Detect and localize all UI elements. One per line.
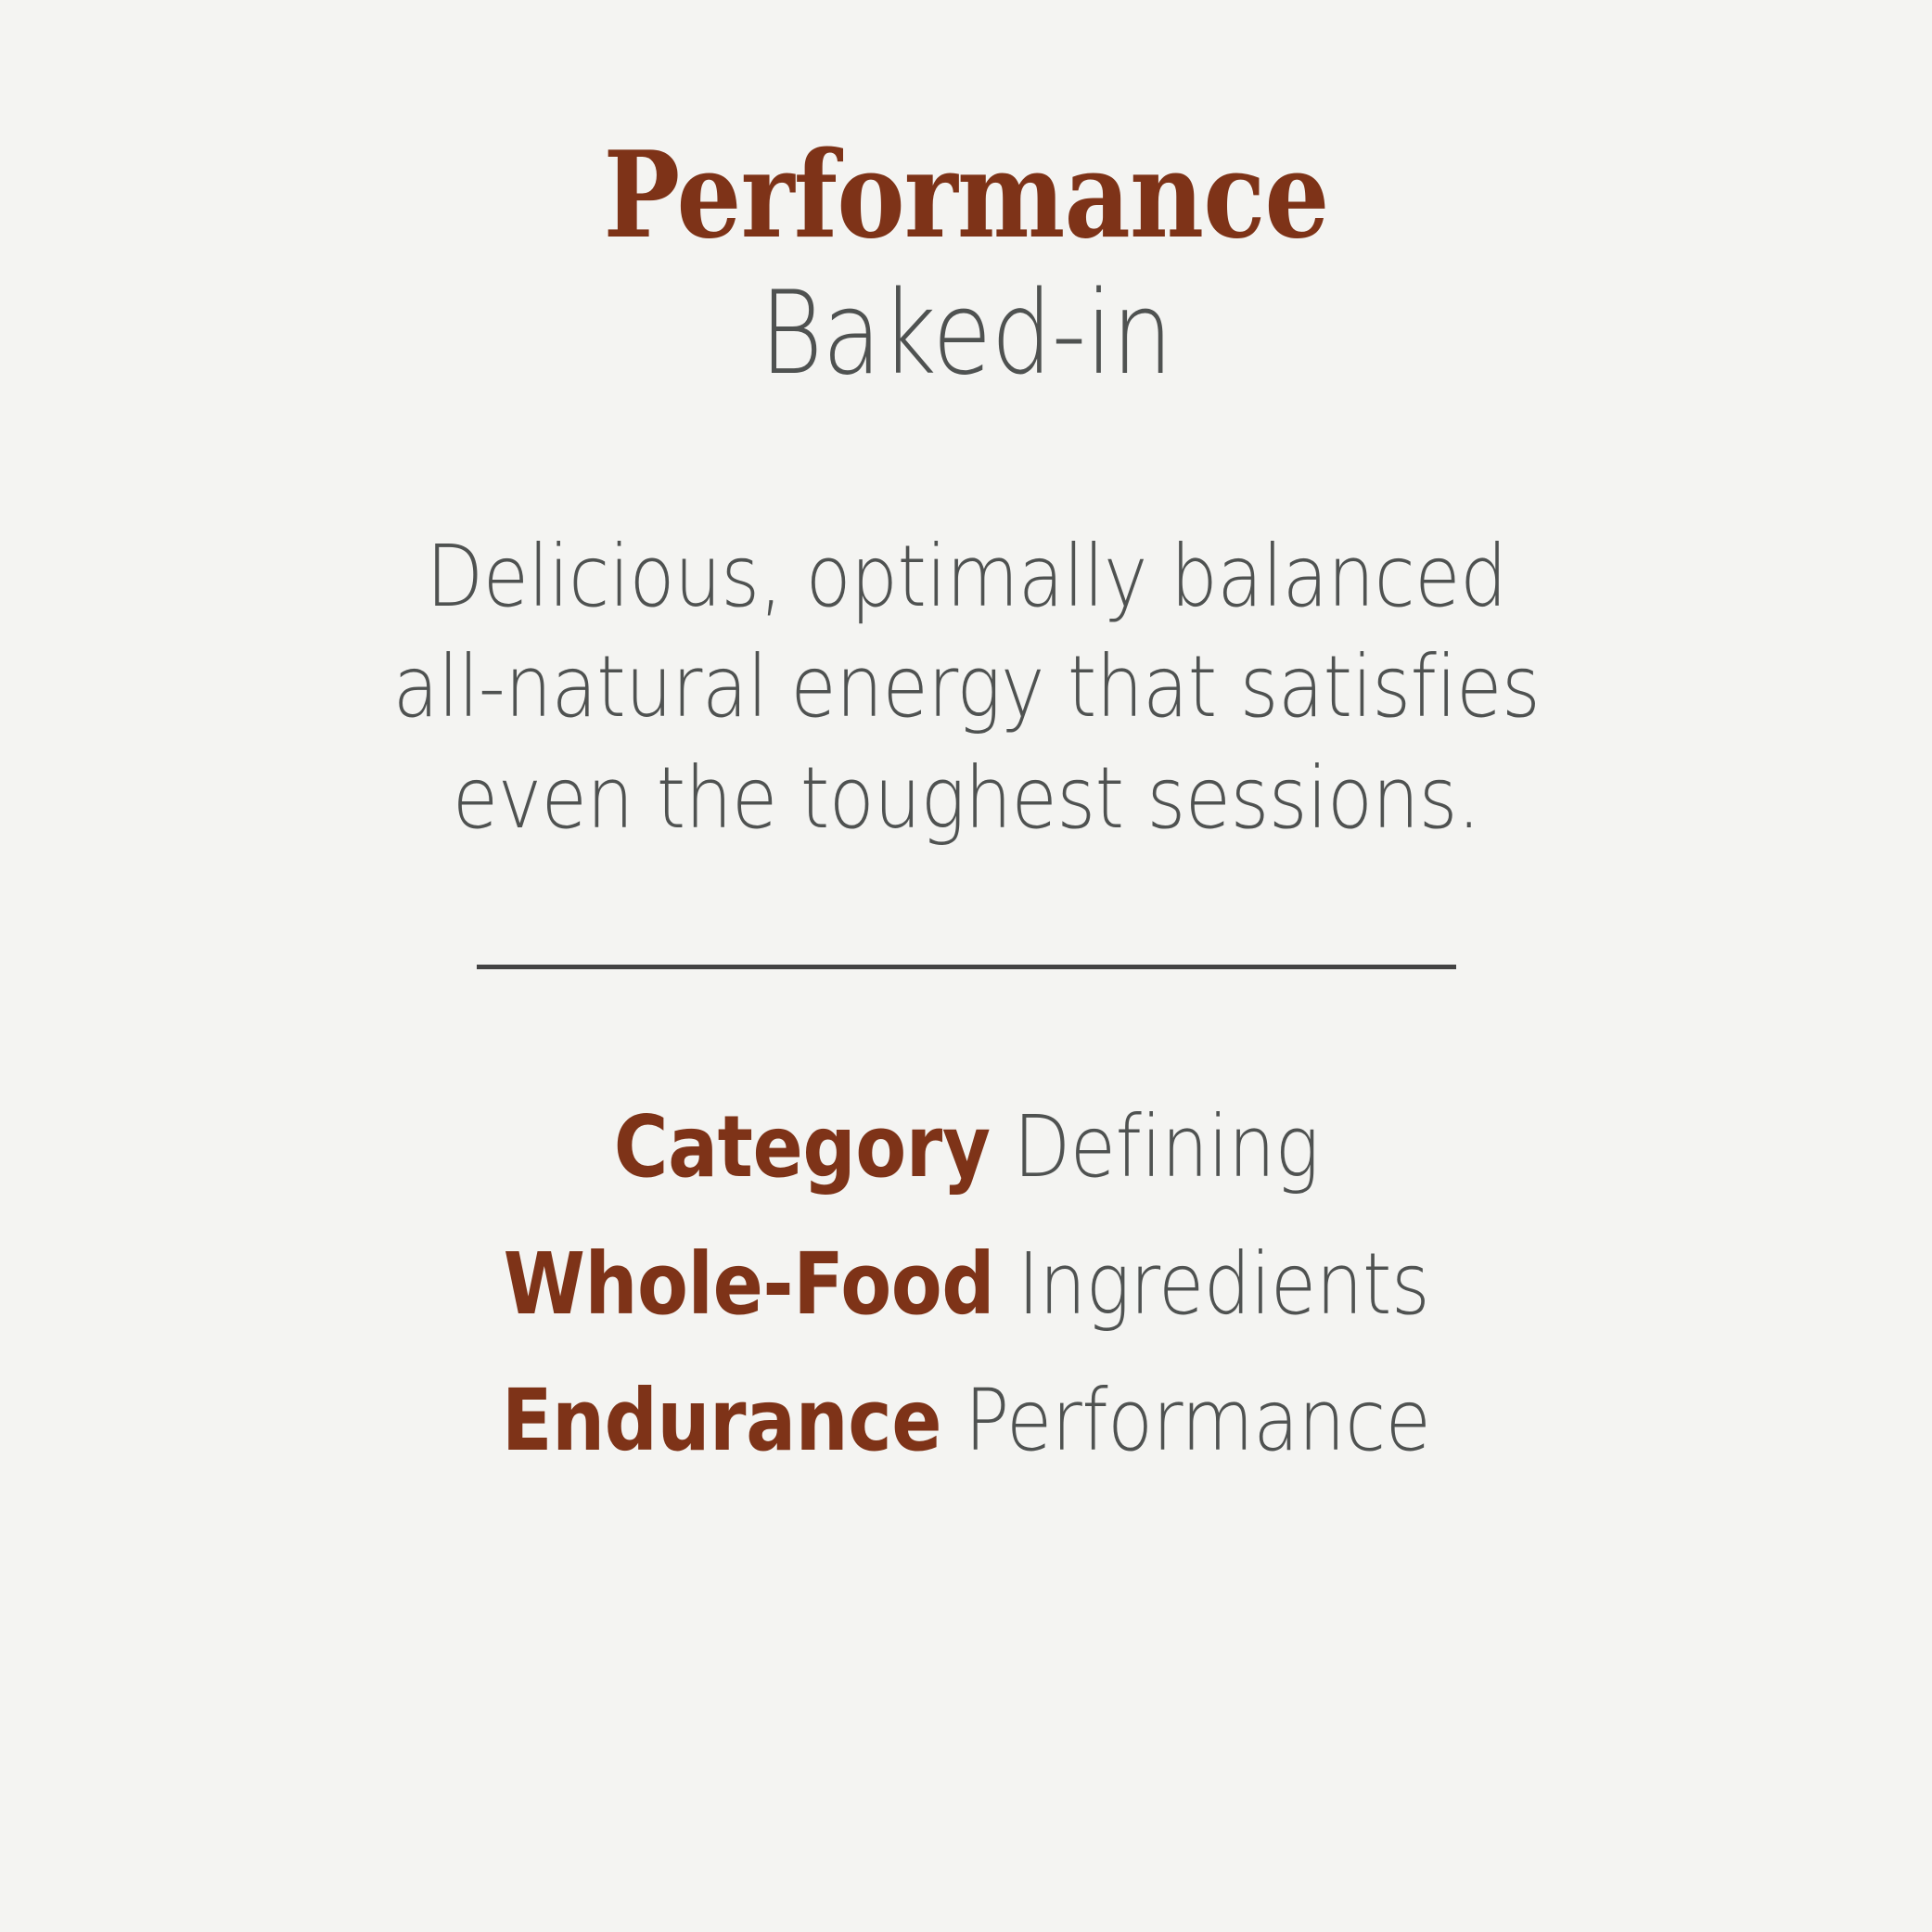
body-paragraph: Delicious, optimally balanced all-natura… [271, 521, 1662, 854]
promo-card: Performance Baked-in Delicious, optimall… [0, 0, 1932, 1932]
feature-list: Category Defining Whole-Food Ingredients… [0, 1079, 1932, 1489]
body-line-1: Delicious, optimally balanced [361, 521, 1571, 633]
horizontal-divider [477, 965, 1456, 969]
feature-rest-label: Defining [990, 1097, 1319, 1196]
feature-item: Endurance Performance [502, 1352, 1431, 1489]
headline-block: Performance Baked-in [0, 130, 1932, 403]
feature-strong-label: Endurance [502, 1371, 941, 1470]
feature-strong-label: Whole-Food [503, 1235, 994, 1334]
headline-line-secondary: Baked-in [155, 266, 1778, 402]
feature-item: Category Defining [613, 1079, 1318, 1215]
headline-line-primary: Performance [135, 130, 1797, 262]
feature-rest-label: Performance [941, 1371, 1430, 1470]
feature-rest-label: Ingredients [994, 1235, 1429, 1334]
divider-container [0, 965, 1932, 969]
feature-item: Whole-Food Ingredients [503, 1216, 1429, 1352]
body-line-3: even the toughest sessions. [361, 743, 1571, 854]
feature-strong-label: Category [613, 1097, 990, 1196]
body-line-2: all-natural energy that satisfies [361, 632, 1571, 743]
